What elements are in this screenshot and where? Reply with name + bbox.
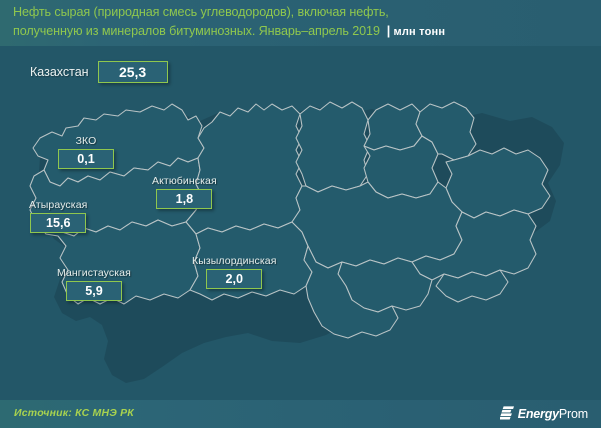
energyprom-logo-icon [500,406,514,421]
footer-band: Источник: КС МНЭ РК EnergyProm [0,400,601,428]
region-kostanay [296,102,370,192]
infographic-root: Нефть сырая (природная смесь углеводород… [0,0,601,428]
callout-mangystau: Мангистауская 5,9 [57,267,131,301]
page-title: Нефть сырая (природная смесь углеводород… [13,3,588,42]
callout-aktobe-label: Актюбинская [152,175,217,187]
kazakhstan-map: ЗКО 0,1 Атырауская 15,6 Актюбинская 1,8 … [0,86,601,386]
callout-aktobe: Актюбинская 1,8 [152,175,217,209]
title-line-1: Нефть сырая (природная смесь углеводород… [13,5,389,19]
region-east-kazakhstan [446,148,550,218]
region-karaganda [292,182,462,268]
logo-energy: Energy [518,407,559,421]
header-band: Нефть сырая (природная смесь углеводород… [0,0,601,46]
callout-kyzylorda: Кызылординская 2,0 [192,255,277,289]
country-total: Казахстан 25,3 [30,61,168,83]
energyprom-logo-text: EnergyProm [518,407,588,421]
map-svg [0,86,601,386]
callout-atyrau: Атырауская 15,6 [29,199,87,233]
country-total-value: 25,3 [98,61,168,83]
callout-atyrau-value: 15,6 [30,213,86,233]
country-total-label: Казахстан [30,65,89,79]
title-units: млн тонн [394,26,446,38]
callout-mangystau-label: Мангистауская [57,267,131,279]
callout-zko-label: ЗКО [76,135,97,147]
callout-kyzylorda-value: 2,0 [206,269,262,289]
source-note: Источник: КС МНЭ РК [14,407,134,419]
energyprom-logo: EnergyProm [500,406,588,421]
region-almaty-south [436,270,508,302]
callout-zko: ЗКО 0,1 [58,135,114,169]
callout-kyzylorda-label: Кызылординская [192,255,277,267]
callout-atyrau-label: Атырауская [29,199,87,211]
title-line-2: полученную из минералов битуминозных. Ян… [13,24,380,38]
callout-mangystau-value: 5,9 [66,281,122,301]
logo-prom: Prom [559,407,588,421]
callout-zko-value: 0,1 [58,149,114,169]
callout-aktobe-value: 1,8 [156,189,212,209]
